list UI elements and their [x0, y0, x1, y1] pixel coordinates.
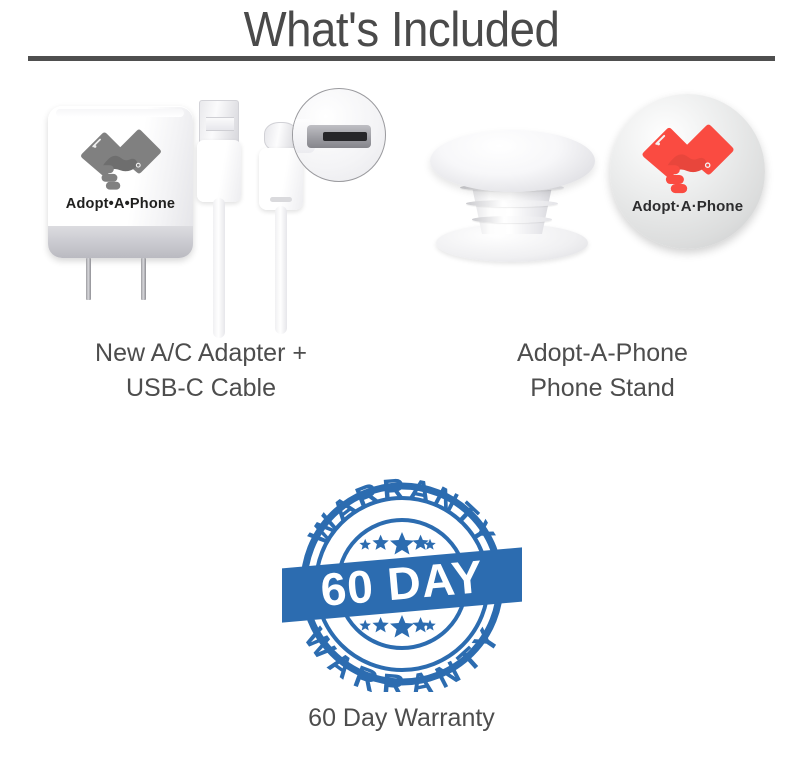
product-ac-adapter-usbc-cable: Adopt•A•Phone	[0, 78, 402, 418]
product-image-phone-stand: Adopt·A·Phone	[402, 78, 803, 333]
usb-c-housing	[259, 148, 303, 210]
stand-top-disc	[430, 130, 595, 192]
stand-rib	[466, 200, 558, 207]
branded-disc-icon: Adopt·A·Phone	[610, 94, 765, 249]
caption-line-2: USB-C Cable	[0, 371, 402, 406]
caption-line-1: New A/C Adapter +	[0, 336, 402, 371]
title-divider	[28, 56, 775, 61]
usb-a-connector-tip	[199, 100, 239, 142]
disc-brand-label: Adopt·A·Phone	[610, 198, 765, 215]
product-caption-phone-stand: Adopt-A-Phone Phone Stand	[402, 336, 803, 406]
product-phone-stand: Adopt·A·Phone Adopt-A-Phone Phone Stand	[402, 78, 803, 418]
product-caption-ac-adapter: New A/C Adapter + USB-C Cable	[0, 336, 402, 406]
inset-usb-c-connector	[307, 125, 371, 148]
stand-rib	[472, 216, 552, 223]
caption-line-2: Phone Stand	[402, 371, 803, 406]
star-decoration-bottom	[359, 615, 435, 638]
product-image-ac-adapter-usbc-cable: Adopt•A•Phone	[0, 78, 402, 333]
adapter-body: Adopt•A•Phone	[48, 106, 193, 258]
included-items-row-1: Adopt•A•Phone	[0, 78, 803, 418]
adapter-bottom-band	[48, 226, 193, 258]
page-title: What's Included	[28, 2, 775, 58]
popsocket-stand-icon	[430, 116, 595, 266]
warranty-caption: 60 Day Warranty	[0, 702, 803, 735]
included-items-row-2: WARRANTY WARRANTY	[0, 470, 803, 770]
warranty-ribbon: 60 DAY	[282, 546, 522, 623]
caption-line-1: Adopt-A-Phone	[402, 336, 803, 371]
handshake-logo-red-icon	[636, 116, 740, 198]
usb-c-cord	[275, 206, 287, 334]
usb-a-cord	[213, 198, 225, 338]
plug-prong-left	[86, 258, 91, 300]
star-decoration-top	[359, 532, 435, 555]
handshake-logo-icon	[77, 122, 165, 194]
usb-c-closeup-inset-icon	[292, 88, 386, 182]
adapter-brand-label: Adopt•A•Phone	[48, 196, 193, 212]
ac-adapter-icon: Adopt•A•Phone	[48, 106, 193, 276]
plug-prong-right	[141, 258, 146, 300]
usb-a-plug-icon	[197, 100, 241, 330]
usb-a-housing	[197, 140, 241, 202]
warranty-badge-icon: WARRANTY WARRANTY	[282, 470, 522, 692]
